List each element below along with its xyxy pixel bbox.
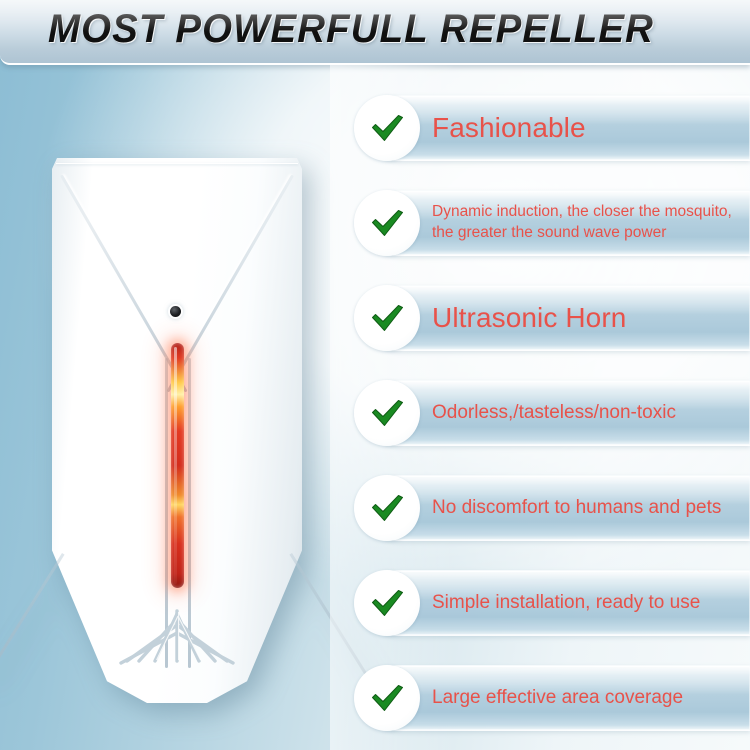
check-badge	[354, 475, 420, 541]
feature-text-line: Dynamic induction, the closer the mosqui…	[432, 202, 750, 223]
header-banner: MOST POWERFULL REPELLER	[0, 0, 750, 65]
feature-label-no-discomfort: No discomfort to humans and pets	[432, 475, 750, 541]
feature-row: Large effective area coverage	[354, 665, 750, 731]
feature-row: Fashionable	[354, 95, 750, 161]
feature-label-large-coverage: Large effective area coverage	[432, 665, 750, 731]
feature-row: Simple installation, ready to use	[354, 570, 750, 636]
feature-text-line: Fashionable	[432, 112, 750, 144]
check-icon	[367, 298, 407, 338]
check-badge	[354, 570, 420, 636]
feature-text-line: Ultrasonic Horn	[432, 302, 750, 334]
check-icon	[367, 583, 407, 623]
feature-row: Odorless,/tasteless/non-toxic	[354, 380, 750, 446]
feature-row: No discomfort to humans and pets	[354, 475, 750, 541]
feature-label-simple-installation: Simple installation, ready to use	[432, 570, 750, 636]
feature-text-line: the greater the sound wave power	[432, 223, 750, 244]
check-badge	[354, 380, 420, 446]
check-icon	[367, 678, 407, 718]
check-badge	[354, 190, 420, 256]
page-title: MOST POWERFULL REPELLER	[48, 7, 654, 52]
feature-row: Ultrasonic Horn	[354, 285, 750, 351]
feature-text-line: Odorless,/tasteless/non-toxic	[432, 402, 750, 424]
feature-label-dynamic-induction: Dynamic induction, the closer the mosqui…	[432, 190, 750, 256]
repeller-device	[52, 158, 302, 703]
device-bevel-bottom-left	[0, 553, 65, 682]
feature-text-line: No discomfort to humans and pets	[432, 497, 750, 519]
product-poster: MOST POWERFULL REPELLER	[0, 0, 750, 750]
check-icon	[367, 203, 407, 243]
feature-label-odorless: Odorless,/tasteless/non-toxic	[432, 380, 750, 446]
product-image-area	[0, 63, 355, 750]
feature-row: Dynamic induction, the closer the mosqui…	[354, 190, 750, 256]
feature-text-line: Large effective area coverage	[432, 687, 750, 709]
speaker-grille-icon	[115, 605, 239, 667]
sensor-dot-icon	[170, 306, 181, 317]
feature-text-line: Simple installation, ready to use	[432, 592, 750, 614]
feature-label-ultrasonic-horn: Ultrasonic Horn	[432, 285, 750, 351]
check-badge	[354, 285, 420, 351]
feature-label-fashionable: Fashionable	[432, 95, 750, 161]
led-indicator-strip	[171, 343, 184, 588]
feature-list: FashionableDynamic induction, the closer…	[354, 63, 750, 750]
check-badge	[354, 95, 420, 161]
check-badge	[354, 665, 420, 731]
check-icon	[367, 393, 407, 433]
check-icon	[367, 108, 407, 148]
check-icon	[367, 488, 407, 528]
device-top-bevel	[56, 163, 298, 164]
